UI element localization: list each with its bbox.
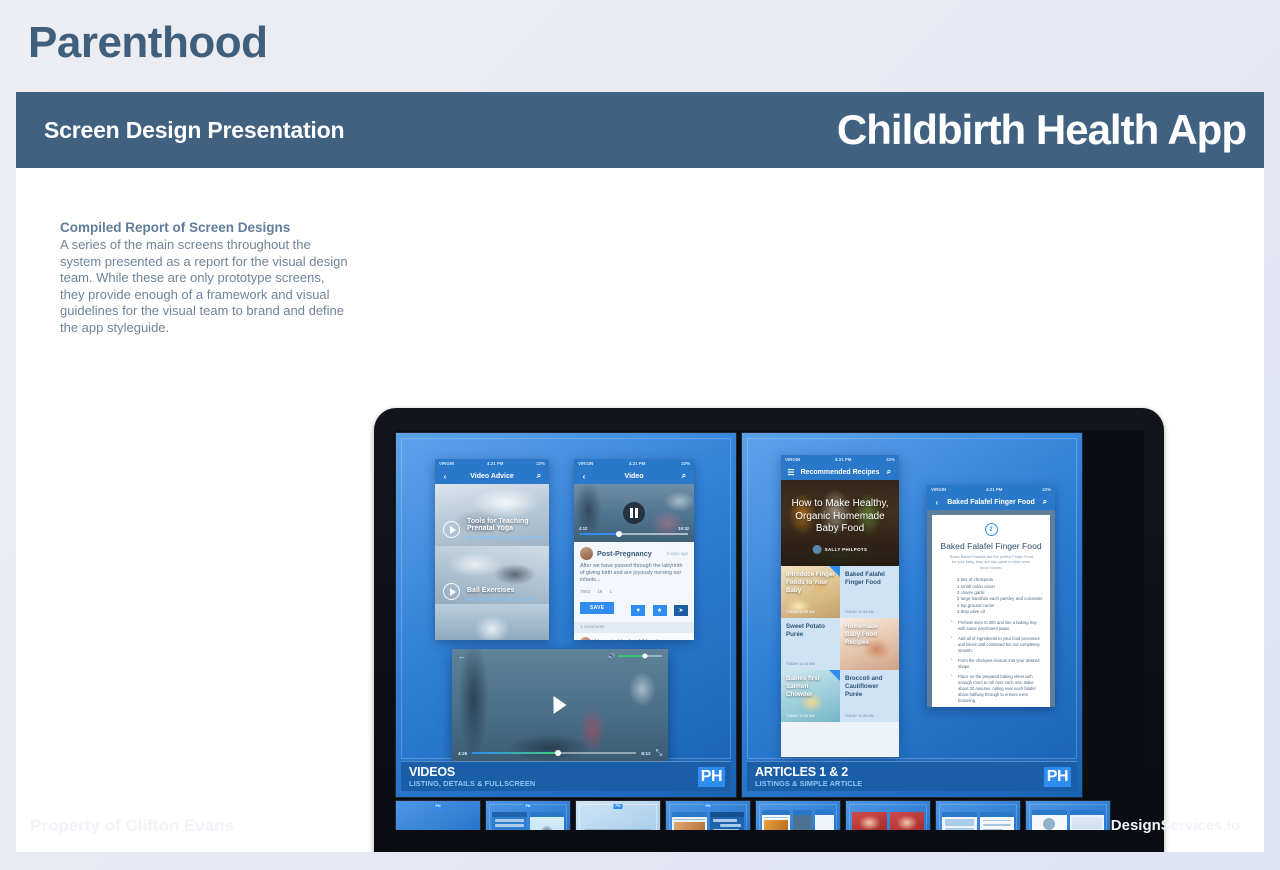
star-icon[interactable]: ★ <box>653 605 667 616</box>
hero-article[interactable]: How to Make Healthy, Organic Homemade Ba… <box>781 480 899 566</box>
article-lead: These Baked Falafels are the perfect Fin… <box>939 555 1043 571</box>
step-item: Place on the prepared baking sheet with … <box>951 674 1043 704</box>
phone-recipes-listing: VIRGIN 4:21 PM 22% ☰ Recommended Recipes… <box>781 455 899 757</box>
search-icon[interactable]: ⌕ <box>534 471 544 481</box>
player-top-bar: ← 🔊 <box>452 649 668 663</box>
mini-article <box>762 815 790 830</box>
chat-bubble <box>720 824 741 827</box>
mini-phone <box>942 812 977 830</box>
play-icon[interactable] <box>443 583 460 600</box>
card-title: Introduce Finger Foods to Your Baby <box>786 571 835 595</box>
slide-content-area: Compiled Report of Screen Designs A seri… <box>16 168 1264 852</box>
comment-text: I have just had a child and am <box>595 639 667 640</box>
slide-subtitle: LISTINGS & SIMPLE ARTICLE <box>755 780 862 788</box>
mini-photo <box>890 812 925 830</box>
phone-video-listing: VIRGIN 4:21 PM 22% ‹ Video Advice ⌕ <box>435 459 549 640</box>
thumbnail-body <box>852 808 924 830</box>
status-battery: 22% <box>536 461 545 466</box>
corner-flag <box>829 566 840 577</box>
post-header: Post-Pregnancy 3 days ago <box>580 547 688 560</box>
laptop-mockup: VIRGIN 4:21 PM 22% ‹ Video Advice ⌕ <box>274 408 1264 852</box>
mini-phone <box>815 810 834 830</box>
footer-ownership: Property of Clifton Evans <box>30 816 234 836</box>
recipe-card-grid: Introduce Finger Foods to Your Baby TODA… <box>781 566 899 722</box>
mini-photo <box>764 820 788 830</box>
time-elapsed: 4:25 <box>458 751 467 756</box>
mini-phone <box>1032 810 1067 830</box>
text-line <box>585 829 651 830</box>
video-time-total: 19:32 <box>678 526 689 531</box>
status-time: 4:21 PM <box>986 487 1003 492</box>
search-icon[interactable]: ⌕ <box>884 467 894 477</box>
slide-footer: ARTICLES 1 & 2 LISTINGS & SIMPLE ARTICLE… <box>747 761 1077 791</box>
views-count: 7863 <box>580 589 590 594</box>
step-item: Preheat oven to 200 and line a baking tr… <box>951 620 1043 632</box>
mini-phone <box>1070 810 1105 830</box>
mini-phone <box>890 812 925 830</box>
video-list-item-partial[interactable] <box>435 604 549 640</box>
progress-fill <box>472 752 557 754</box>
description-block: Compiled Report of Screen Designs A seri… <box>60 220 350 336</box>
card-title: Sweet Potato Purée <box>786 623 835 639</box>
slide-title: VIDEOS <box>409 766 535 779</box>
video-player[interactable]: 4:12 19:32 <box>574 484 694 542</box>
video-meta: ABC CHANNEL DEC 14, 2014 2:54 PM <box>467 535 542 540</box>
avatar <box>1043 818 1055 830</box>
mini-row <box>945 819 974 826</box>
deck-main-slides: VIRGIN 4:21 PM 22% ‹ Video Advice ⌕ <box>394 430 1144 797</box>
laptop-screen: VIRGIN 4:21 PM 22% ‹ Video Advice ⌕ <box>394 430 1144 830</box>
card-meta: TODAY 11:33 AM <box>786 662 815 666</box>
progress-slider[interactable] <box>472 752 636 754</box>
post-stats: 7863 19 1 <box>580 589 688 594</box>
mini-phone <box>492 812 527 830</box>
video-time-elapsed: 4:12 <box>579 526 587 531</box>
recipe-card[interactable]: Sweet Potato Purée TODAY 11:33 AM <box>781 618 840 670</box>
page-title: Parenthood <box>28 18 267 68</box>
pause-icon[interactable] <box>623 502 645 524</box>
mini-illustration <box>530 817 565 830</box>
video-title: Ball Exercises <box>467 587 514 594</box>
comment-count-label: 1 comment <box>574 622 694 633</box>
thumbnail-tracking[interactable]: TRACKING BABY PROGRESS PH <box>846 801 930 830</box>
back-icon[interactable]: ‹ <box>932 498 942 507</box>
fullscreen-video-player[interactable]: ← 🔊 4: <box>452 649 668 761</box>
thumbnail-summary[interactable]: PH Summary <box>576 801 660 830</box>
mini-status-bar <box>1032 810 1067 815</box>
status-carrier: VIRGIN <box>439 461 454 466</box>
mini-phone <box>530 812 565 830</box>
header-bar: Screen Design Presentation Childbirth He… <box>16 92 1264 168</box>
play-icon[interactable] <box>443 521 460 538</box>
recipe-card[interactable]: Homemade Baby Food Recipes <box>840 618 899 670</box>
speaker-icon: 🔊 <box>608 653 615 660</box>
card-meta: TODAY 11:34 AM <box>845 610 874 614</box>
thumbnail-cover[interactable]: PH Parenthood Concept Designs v05 - IN P… <box>396 801 480 830</box>
time-total: 8:12 <box>641 751 650 756</box>
status-bar: VIRGIN 4:21 PM 22% <box>927 485 1055 494</box>
mini-status-bar <box>980 812 1015 817</box>
status-battery: 22% <box>681 461 690 466</box>
card-title: Broccoli and Cauliflower Purée <box>845 675 894 699</box>
ingredient-item: 3 tbsp olive oil <box>957 609 1043 615</box>
mini-phone <box>852 812 887 830</box>
author-name: SALLY PHILPOTS <box>825 547 868 552</box>
back-icon[interactable]: ‹ <box>579 472 589 481</box>
status-carrier: VIRGIN <box>931 487 946 492</box>
phone-video-detail: VIRGIN 4:21 PM 22% ‹ Video ⌕ <box>574 459 694 640</box>
mini-status-bar <box>1070 810 1105 815</box>
thumbnail-body: Parenthood Concept Designs v05 - IN PROG… <box>402 808 474 830</box>
ingredient-item: 2 large handfuls each parsley and corian… <box>957 596 1043 602</box>
volume-knob[interactable] <box>643 654 648 659</box>
slide-footer: VIDEOS LISTING, DETAILS & FULLSCREEN PH <box>401 761 731 791</box>
photo-figure <box>435 604 549 640</box>
likes-count: 19 <box>597 589 602 594</box>
progress-knob[interactable] <box>555 750 561 756</box>
mini-status-bar <box>793 810 812 815</box>
footer-brand: DesignServices.io <box>1111 817 1240 834</box>
thumbnail-body <box>762 808 834 830</box>
status-time: 4:21 PM <box>835 457 852 462</box>
mini-photo <box>852 812 887 830</box>
status-battery: 22% <box>886 457 895 462</box>
ingredients-list: 2 tins of chickpeas 1 small onion onion … <box>939 577 1043 615</box>
mini-field <box>495 824 524 827</box>
text-line <box>983 824 1012 825</box>
video-title: Tools for Teaching Prenatal Yoga <box>467 518 549 532</box>
ph-logo-badge: PH <box>698 767 725 787</box>
post-block: Post-Pregnancy 3 days ago After we have … <box>574 542 694 622</box>
article-sheet: 2 Baked Falafel Finger Food These Baked … <box>932 515 1050 707</box>
nav-bar: ☰ Recommended Recipes ⌕ <box>781 464 899 480</box>
step-number-badge: 2 <box>985 523 998 536</box>
step-item: Form the chickpea mixture into your desi… <box>951 658 1043 670</box>
corner-flag <box>829 670 840 681</box>
mini-status-bar <box>942 812 977 817</box>
nav-title: Recommended Recipes <box>796 469 884 476</box>
status-bar: VIRGIN 4:21 PM 22% <box>435 459 549 468</box>
slide-footer-texts: VIDEOS LISTING, DETAILS & FULLSCREEN <box>409 766 535 788</box>
text-line <box>983 829 1004 830</box>
comment-row: I have just had a child and am <box>574 633 694 640</box>
nav-title: Video Advice <box>450 473 534 480</box>
mini-phone <box>672 812 707 830</box>
thumbnail-ecommerce[interactable]: ECOMMERCE BASKET, CART & CHECKOUT PH <box>936 801 1020 830</box>
header-title: Childbirth Health App <box>837 109 1246 151</box>
scrubber-knob[interactable] <box>616 531 622 537</box>
status-time: 4:21 PM <box>629 461 646 466</box>
thumbnail-articles-34[interactable]: ARTICLES 3 & 4 RICH MEDIA & COMPLEX ARTI… <box>756 801 840 830</box>
volume-control[interactable]: 🔊 <box>608 653 662 660</box>
recipe-card[interactable]: Introduce Finger Foods to Your Baby TODA… <box>781 566 840 618</box>
description-title: Compiled Report of Screen Designs <box>60 220 350 235</box>
hero-author: SALLY PHILPOTS <box>813 545 868 554</box>
status-time: 4:21 PM <box>487 461 504 466</box>
thumbnail-strip: PH Parenthood Concept Designs v05 - IN P… <box>394 797 1144 830</box>
text-line <box>764 817 788 818</box>
action-icons: ♥ ★ ➤ <box>628 599 688 617</box>
mini-photo-grid <box>674 822 705 830</box>
slide-articles[interactable]: VIRGIN 4:21 PM 22% ☰ Recommended Recipes… <box>742 433 1082 797</box>
nav-title: Baked Falafel Finger Food <box>942 499 1040 506</box>
video-scrubber[interactable] <box>580 533 688 535</box>
status-bar: VIRGIN 4:21 PM 22% <box>574 459 694 468</box>
status-battery: 22% <box>1042 487 1051 492</box>
card-title: Homemade Baby Food Recipes <box>845 623 894 647</box>
card-title: Baked Falafel Finger Food <box>845 571 894 587</box>
avatar <box>580 547 593 560</box>
save-button[interactable]: SAVE <box>580 602 614 614</box>
slide-title: ARTICLES 1 & 2 <box>755 766 862 779</box>
mini-phone <box>710 812 745 830</box>
recipe-card[interactable]: Baked Falafel Finger Food TODAY 11:34 AM <box>840 566 899 618</box>
mini-chart <box>1072 817 1103 829</box>
play-icon[interactable] <box>554 696 567 714</box>
slide-videos[interactable]: VIRGIN 4:21 PM 22% ‹ Video Advice ⌕ <box>396 433 736 797</box>
card-title: Babies first Salmon Chowder <box>786 675 835 699</box>
card-meta: TODAY 11:35 AM <box>786 610 815 614</box>
slide-footer-texts: ARTICLES 1 & 2 LISTINGS & SIMPLE ARTICLE <box>755 766 862 788</box>
summary-lines <box>582 829 654 830</box>
post-body: After we have passed through the labyrin… <box>580 563 688 585</box>
video-list-item[interactable]: Tools for Teaching Prenatal Yoga ABC CHA… <box>435 484 549 546</box>
thumbnail-body <box>672 808 744 830</box>
card-meta: TODAY 11:25 AM <box>845 714 874 718</box>
status-carrier: VIRGIN <box>785 457 800 462</box>
nav-bar: ‹ Video ⌕ <box>574 468 694 484</box>
nav-bar: ‹ Baked Falafel Finger Food ⌕ <box>927 494 1055 510</box>
post-actions: SAVE ♥ ★ ➤ <box>580 599 688 617</box>
mini-field <box>495 819 524 822</box>
mini-phone <box>762 810 790 830</box>
search-icon[interactable]: ⌕ <box>1040 497 1050 507</box>
search-icon[interactable]: ⌕ <box>679 471 689 481</box>
nav-bar: ‹ Video Advice ⌕ <box>435 468 549 484</box>
back-arrow-icon[interactable]: ← <box>458 652 466 661</box>
volume-fill <box>618 655 645 657</box>
avatar <box>813 545 822 554</box>
mini-status-bar <box>815 810 834 815</box>
hero-title: How to Make Healthy, Organic Homemade Ba… <box>781 498 899 536</box>
mini-feed <box>672 817 707 830</box>
thumbnail-profile[interactable]: PROFILE BABY AND USER STATS PH <box>1026 801 1110 830</box>
scrubber-fill <box>580 533 619 535</box>
volume-slider[interactable] <box>618 655 662 657</box>
thumbnail-signup[interactable]: PH <box>486 801 570 830</box>
nav-title: Video <box>589 473 679 480</box>
recipe-card[interactable]: Broccoli and Cauliflower Purée TODAY 11:… <box>840 670 899 722</box>
mini-phone <box>793 810 812 830</box>
text-line <box>983 820 1012 821</box>
hamburger-menu-icon[interactable]: ☰ <box>786 468 796 477</box>
slide-subtitle: LISTING, DETAILS & FULLSCREEN <box>409 780 535 788</box>
video-list-item[interactable]: Ball Exercises ABC YOGA MAR 23, 2015 1:1… <box>435 546 549 608</box>
video-meta: ABC YOGA MAR 23, 2015 1:12 PM <box>467 597 535 602</box>
summary-heading: Summary <box>584 814 654 824</box>
recipe-card[interactable]: Babies first Salmon Chowder TODAY 11:26 … <box>781 670 840 722</box>
mini-phone <box>980 812 1015 830</box>
thumbnail-body: Summary <box>582 808 654 830</box>
card-meta: TODAY 11:26 AM <box>786 714 815 718</box>
phone-article-detail: VIRGIN 4:21 PM 22% ‹ Baked Falafel Finge… <box>927 485 1055 707</box>
header-subtitle: Screen Design Presentation <box>28 117 344 144</box>
thumbnail-body <box>942 808 1014 830</box>
status-bar: VIRGIN 4:21 PM 22% <box>781 455 899 464</box>
description-body: A series of the main screens throughout … <box>60 237 350 336</box>
fullscreen-icon[interactable]: ⤡ <box>656 748 662 758</box>
player-bottom-bar: 4:25 8:12 ⤡ <box>452 745 668 761</box>
post-title: Post-Pregnancy <box>597 549 663 558</box>
back-icon[interactable]: ‹ <box>440 472 450 481</box>
steps-list: Preheat oven to 200 and line a baking tr… <box>939 620 1043 704</box>
status-carrier: VIRGIN <box>578 461 593 466</box>
mini-status-bar <box>492 812 527 817</box>
mini-status-bar <box>710 812 745 817</box>
step-item: Add all of ingredients to your food proc… <box>951 636 1043 654</box>
post-timestamp: 3 days ago <box>667 551 688 556</box>
chat-bubble <box>713 819 737 822</box>
thumbnail-body <box>492 808 564 830</box>
share-icon[interactable]: ➤ <box>674 605 688 616</box>
comments-count: 1 <box>609 589 612 594</box>
text-line <box>674 819 705 820</box>
heart-icon[interactable]: ♥ <box>631 605 645 616</box>
thumbnail-timeline[interactable]: PH <box>666 801 750 830</box>
avatar <box>580 637 591 640</box>
thumbnail-body <box>1032 808 1104 830</box>
mini-row <box>945 828 974 830</box>
article-heading: Baked Falafel Finger Food <box>939 541 1043 551</box>
chat-bubble <box>713 829 739 830</box>
ph-logo-badge: PH <box>1044 767 1071 787</box>
presentation-deck: VIRGIN 4:21 PM 22% ‹ Video Advice ⌕ <box>394 430 1144 830</box>
